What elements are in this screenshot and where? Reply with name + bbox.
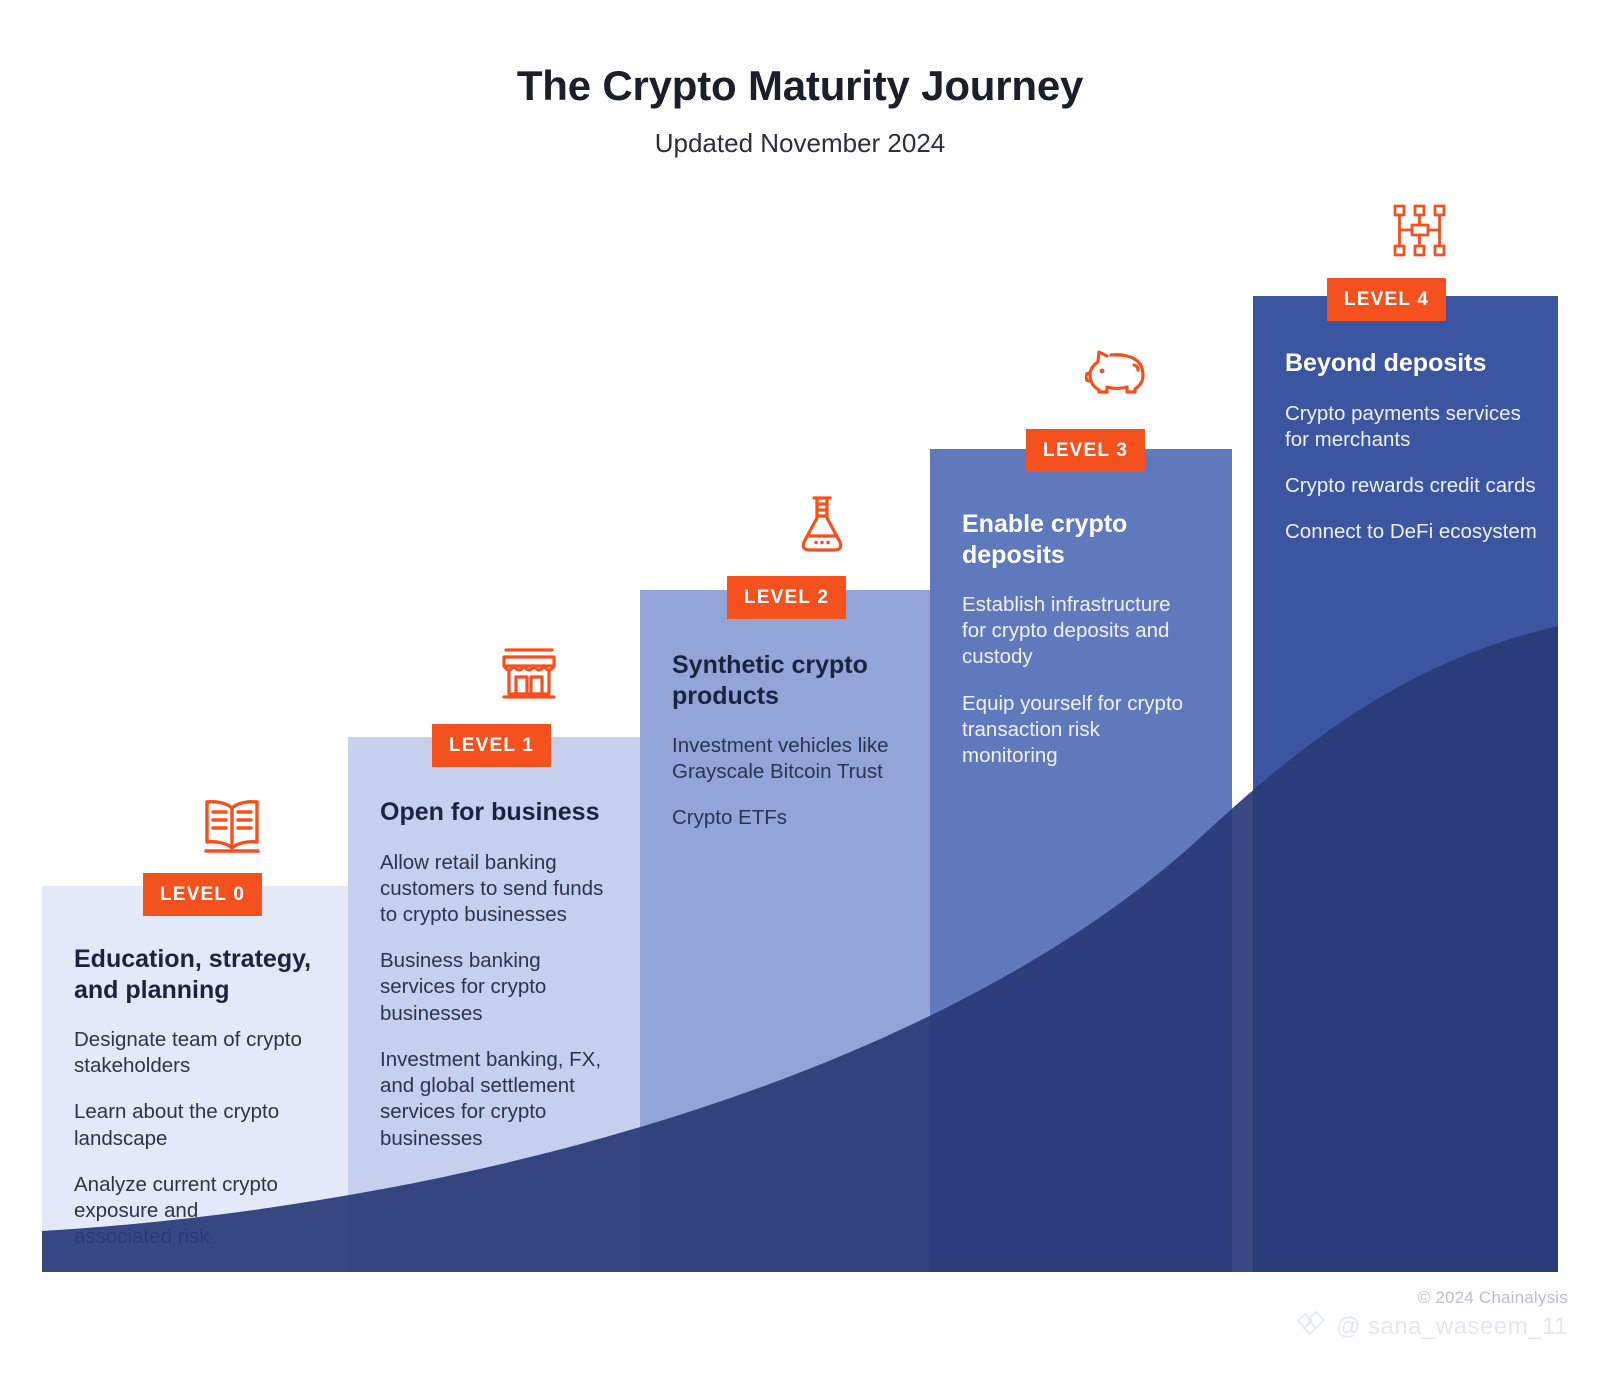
flask-icon <box>787 490 857 560</box>
piggy-bank-icon <box>1082 338 1152 408</box>
level-1-bullet: Investment banking, FX, and global settl… <box>380 1047 622 1152</box>
infographic-canvas: The Crypto Maturity Journey Updated Nove… <box>0 0 1600 1387</box>
level-0-column[interactable]: Education, strategy, and planning Design… <box>42 886 348 1272</box>
level-0-bullet: Analyze current crypto exposure and asso… <box>74 1172 299 1251</box>
level-1-bullet: Business banking services for crypto bus… <box>380 948 620 1027</box>
level-2-heading: Synthetic crypto products <box>672 650 887 711</box>
level-1-badge[interactable]: LEVEL 1 <box>432 724 551 767</box>
level-2-badge[interactable]: LEVEL 2 <box>727 576 846 619</box>
watermark: @ sana_waseem_11 <box>1296 1310 1568 1343</box>
level-1-heading: Open for business <box>380 797 622 828</box>
level-3-bullet: Equip yourself for crypto transaction ri… <box>962 691 1187 770</box>
level-4-badge[interactable]: LEVEL 4 <box>1327 278 1446 321</box>
level-3-badge[interactable]: LEVEL 3 <box>1026 429 1145 472</box>
level-0-bullet: Designate team of crypto stakeholders <box>74 1027 324 1079</box>
page-subtitle: Updated November 2024 <box>0 128 1600 159</box>
copyright-text: © 2024 Chainalysis <box>1296 1288 1568 1308</box>
storefront-icon <box>494 638 564 708</box>
diamond-logo-icon <box>1296 1310 1330 1343</box>
level-2-bullet: Crypto ETFs <box>672 805 907 831</box>
level-1-bullet: Allow retail banking customers to send f… <box>380 850 605 929</box>
level-4-bullet: Crypto payments services for merchants <box>1285 401 1535 453</box>
footer: © 2024 Chainalysis @ sana_waseem_11 <box>1296 1288 1568 1343</box>
header: The Crypto Maturity Journey Updated Nove… <box>0 62 1600 159</box>
level-1-column[interactable]: Open for business Allow retail banking c… <box>348 737 640 1272</box>
level-3-heading: Enable crypto deposits <box>962 509 1167 570</box>
level-0-badge[interactable]: LEVEL 0 <box>143 873 262 916</box>
level-2-column[interactable]: Synthetic crypto products Investment veh… <box>640 590 930 1272</box>
level-4-column[interactable]: Beyond deposits Crypto payments services… <box>1253 296 1558 1272</box>
open-book-icon <box>197 791 267 861</box>
level-0-bullet: Learn about the crypto landscape <box>74 1099 324 1151</box>
level-0-heading: Education, strategy, and planning <box>74 944 329 1005</box>
level-4-bullet: Crypto rewards credit cards <box>1285 473 1540 499</box>
level-3-bullet: Establish infrastructure for crypto depo… <box>962 592 1187 671</box>
page-title: The Crypto Maturity Journey <box>0 62 1600 110</box>
level-2-bullet: Investment vehicles like Grayscale Bitco… <box>672 733 907 785</box>
level-3-column[interactable]: Enable crypto deposits Establish infrast… <box>930 449 1232 1272</box>
level-4-heading: Beyond deposits <box>1285 348 1540 379</box>
watermark-handle: @ sana_waseem_11 <box>1336 1313 1568 1341</box>
network-nodes-icon <box>1385 196 1455 266</box>
steps-area: Education, strategy, and planning Design… <box>42 196 1558 1272</box>
level-4-bullet: Connect to DeFi ecosystem <box>1285 519 1540 545</box>
